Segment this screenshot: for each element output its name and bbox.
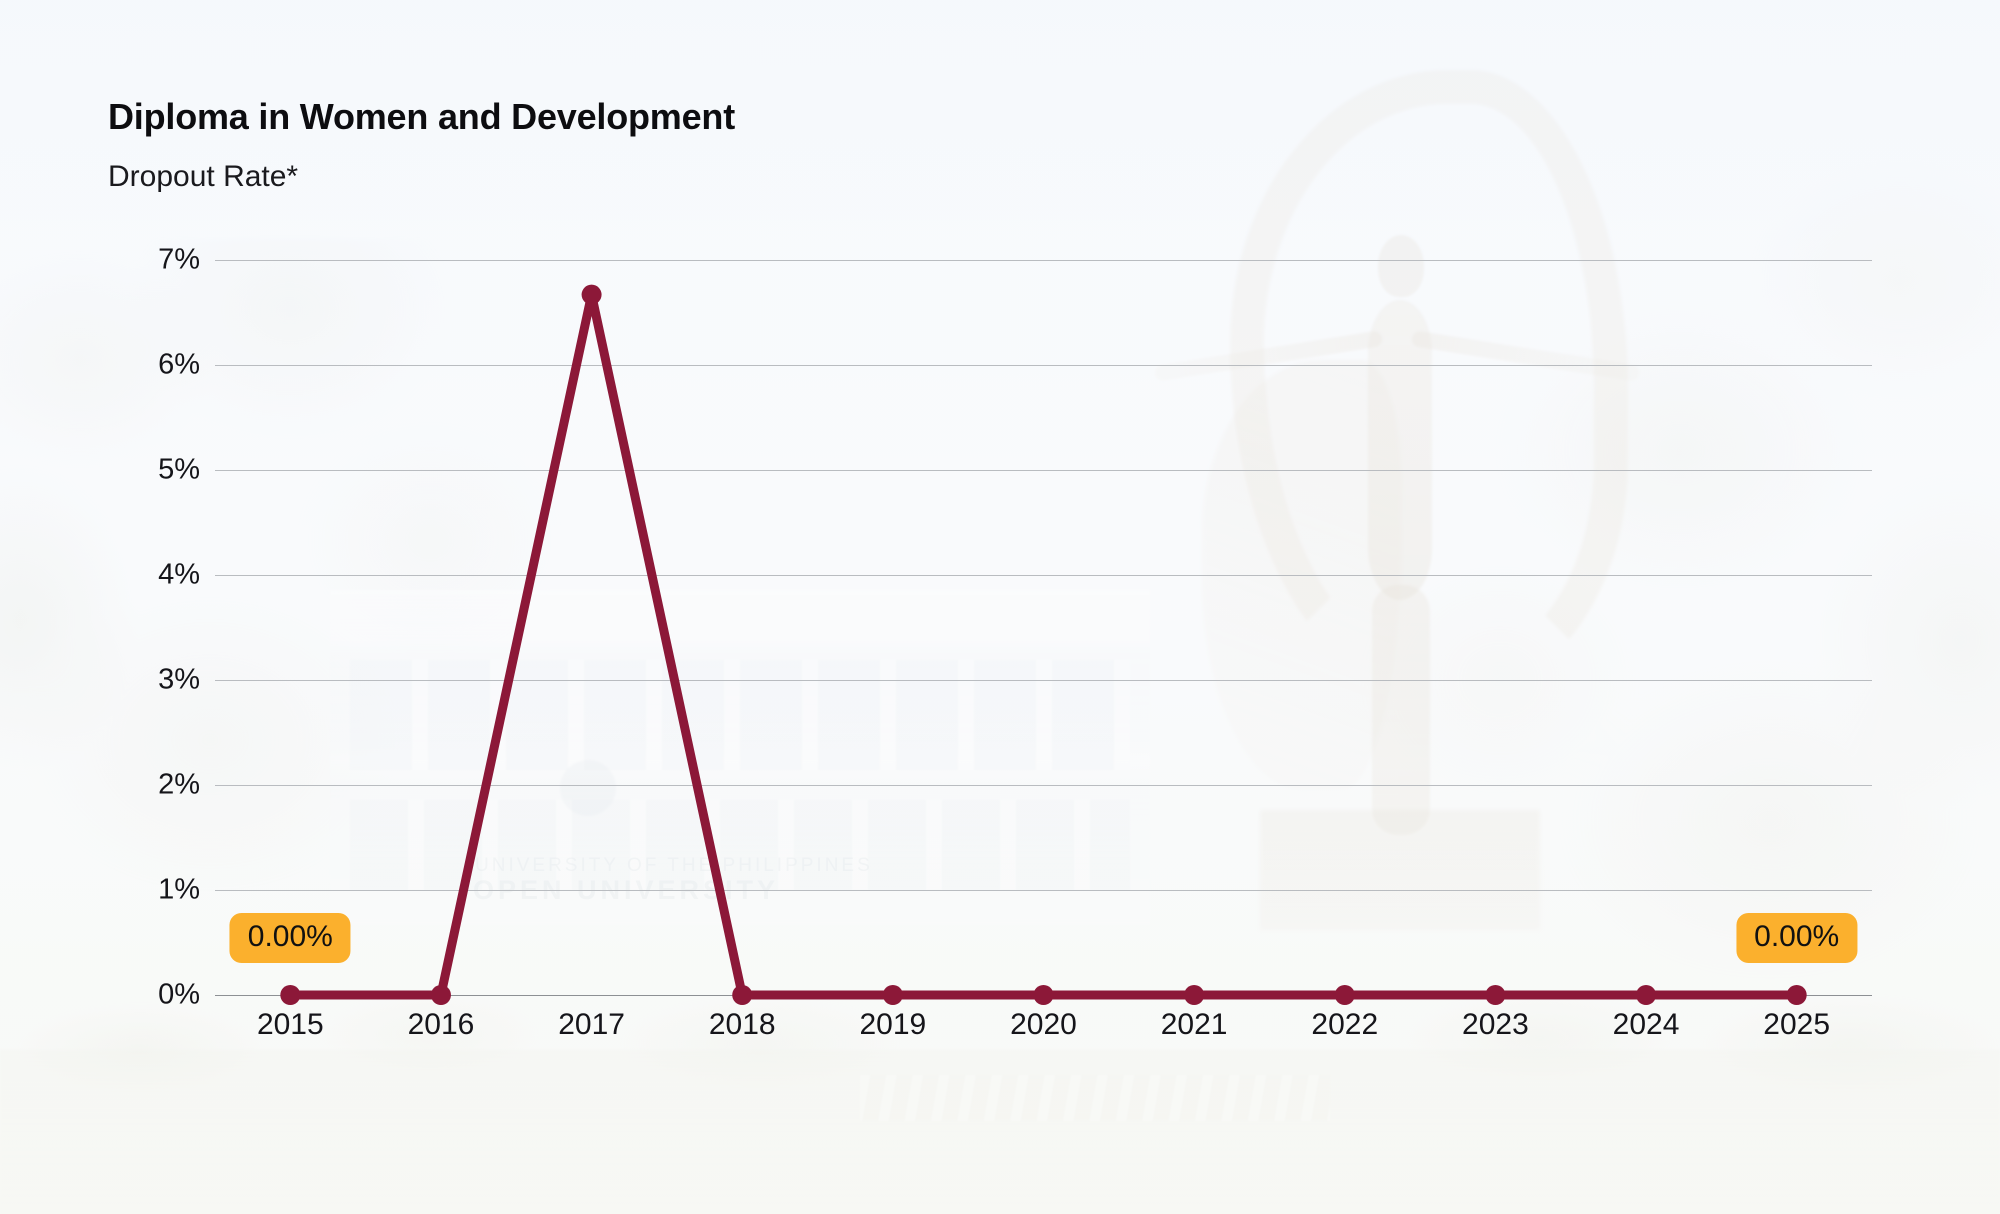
data-point-marker[interactable]: [280, 985, 300, 1005]
data-point-marker[interactable]: [1787, 985, 1807, 1005]
data-point-marker[interactable]: [1184, 985, 1204, 1005]
data-label-badge: 0.00%: [230, 913, 351, 963]
chart-subtitle: Dropout Rate*: [108, 160, 298, 194]
data-point-marker[interactable]: [732, 985, 752, 1005]
data-point-marker[interactable]: [1636, 985, 1656, 1005]
chart-title: Diploma in Women and Development: [108, 96, 735, 138]
x-axis-tick-label: 2019: [813, 1008, 973, 1042]
x-axis-tick-label: 2025: [1717, 1008, 1877, 1042]
y-axis-tick-label: 0%: [80, 979, 200, 1012]
y-axis-tick-label: 3%: [80, 664, 200, 697]
data-point-marker[interactable]: [883, 985, 903, 1005]
series-path: [290, 295, 1796, 995]
data-point-marker[interactable]: [1335, 985, 1355, 1005]
x-axis-tick-label: 2016: [361, 1008, 521, 1042]
y-axis-tick-label: 4%: [80, 559, 200, 592]
y-axis-tick-label: 6%: [80, 349, 200, 382]
y-axis-tick-label: 1%: [80, 874, 200, 907]
plot-area: 0%1%2%3%4%5%6%7%201520162017201820192020…: [215, 260, 1872, 995]
data-point-marker[interactable]: [582, 285, 602, 305]
x-axis-tick-label: 2015: [210, 1008, 370, 1042]
series-line: [215, 260, 1872, 995]
y-axis-tick-label: 7%: [80, 244, 200, 277]
y-axis-tick-label: 5%: [80, 454, 200, 487]
data-point-marker[interactable]: [1485, 985, 1505, 1005]
y-axis-tick-label: 2%: [80, 769, 200, 802]
x-axis-tick-label: 2024: [1566, 1008, 1726, 1042]
chart-page: UNIVERSITY OF THE PHILIPPINES OPEN UNIVE…: [0, 0, 2000, 1214]
x-axis-tick-label: 2022: [1265, 1008, 1425, 1042]
data-point-marker[interactable]: [431, 985, 451, 1005]
chart: Diploma in Women and Development Dropout…: [0, 0, 2000, 1214]
x-axis-tick-label: 2017: [512, 1008, 672, 1042]
x-axis-tick-label: 2018: [662, 1008, 822, 1042]
data-point-marker[interactable]: [1034, 985, 1054, 1005]
data-label-badge: 0.00%: [1736, 913, 1857, 963]
x-axis-tick-label: 2021: [1114, 1008, 1274, 1042]
x-axis-tick-label: 2020: [964, 1008, 1124, 1042]
x-axis-tick-label: 2023: [1415, 1008, 1575, 1042]
